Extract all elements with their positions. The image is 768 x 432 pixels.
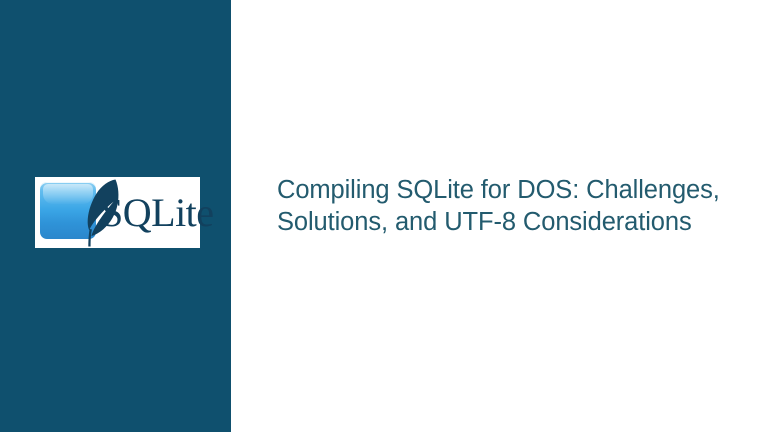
- slide-title: Compiling SQLite for DOS: Challenges, So…: [277, 175, 729, 238]
- sqlite-logo: SQLite: [35, 177, 200, 248]
- sqlite-logo-inner: SQLite: [35, 177, 200, 248]
- sqlite-wordmark: SQLite: [101, 191, 214, 235]
- presentation-slide: SQLite Compiling SQLite for DOS: Challen…: [0, 0, 768, 432]
